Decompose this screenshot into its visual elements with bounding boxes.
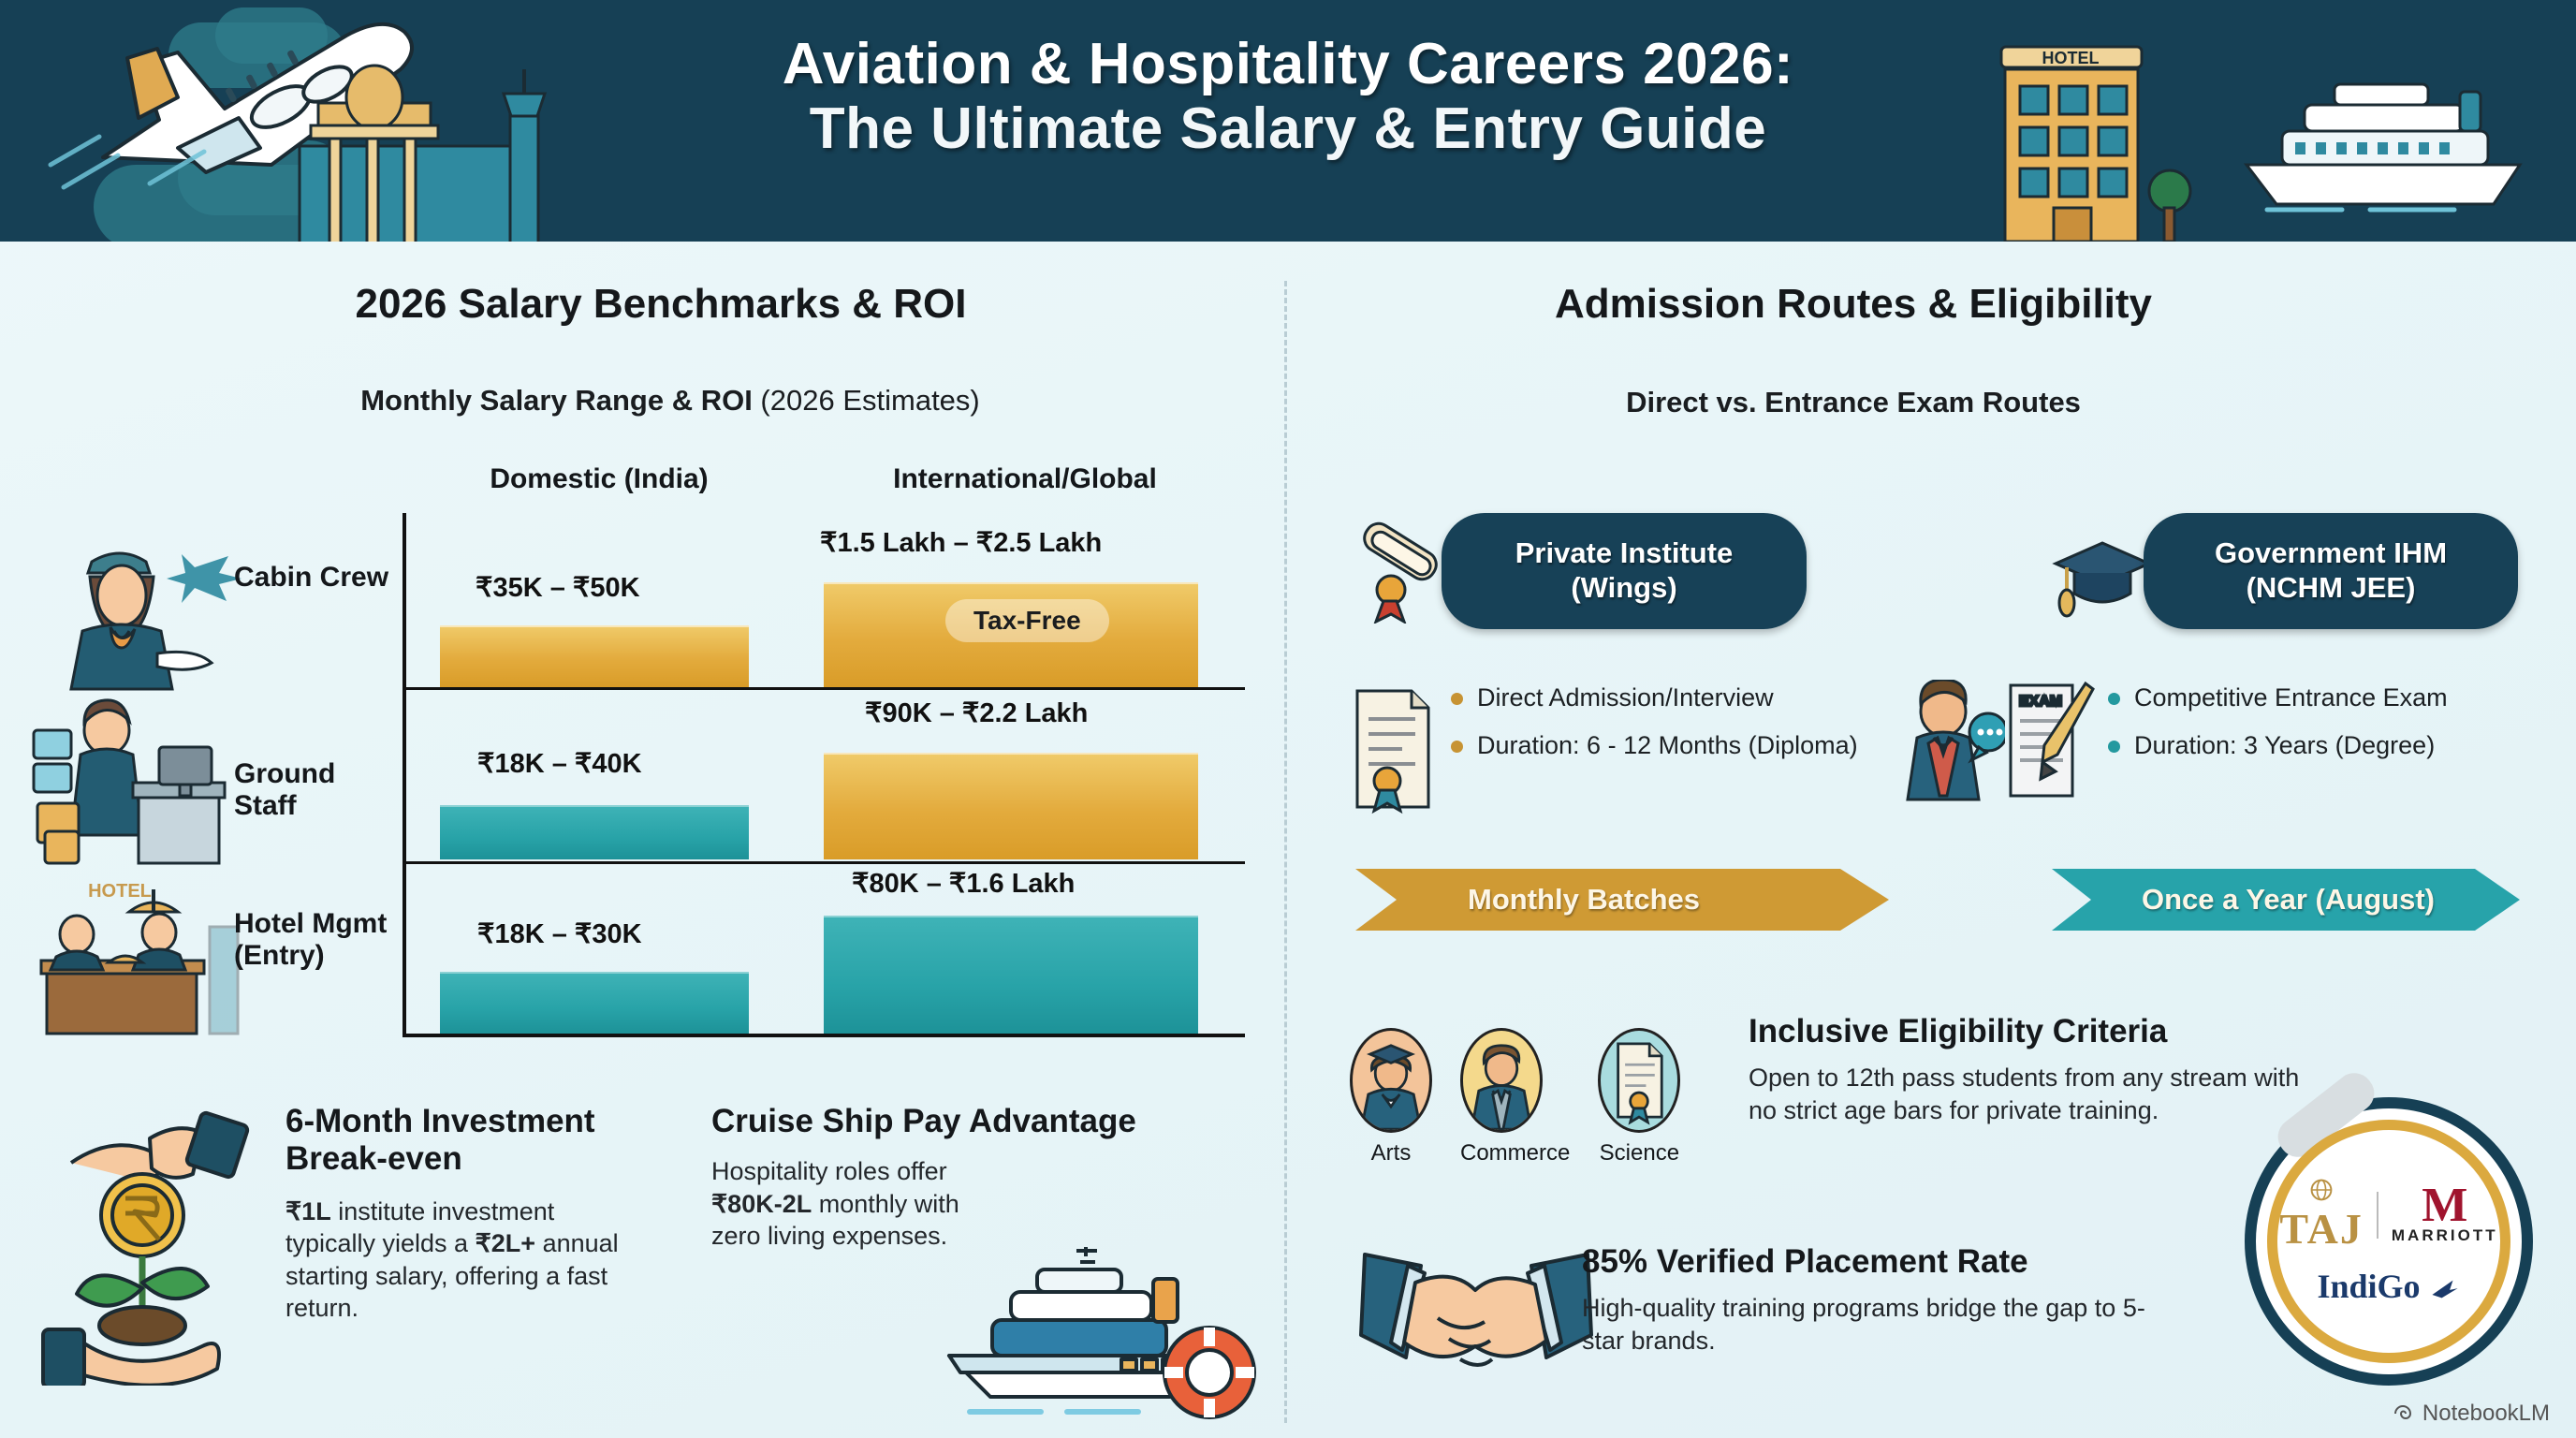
chart-row-label-ground-staff: Ground Staff <box>234 758 402 821</box>
notebooklm-watermark: NotebookLM <box>2392 1401 2550 1427</box>
stream-label-science: Science <box>1598 1140 1680 1167</box>
investment-card: 6-Month Investment Break-even ₹1L instit… <box>285 1103 632 1325</box>
handshake-icon <box>1359 1245 1593 1404</box>
cruise-pay-range: ₹80K-2L <box>711 1190 812 1218</box>
route-bullet-gov-0: Competitive Entrance Exam <box>2106 682 2576 714</box>
placement-text-block: 85% Verified Placement Rate High-quality… <box>1582 1243 2162 1357</box>
bar-label-hotel-mgmt-domestic: ₹18K – ₹30K <box>477 917 642 950</box>
cruise-card-heading: Cruise Ship Pay Advantage <box>711 1103 1254 1140</box>
graduation-cap-icon <box>2050 521 2153 624</box>
cabin-crew-icon <box>37 534 253 693</box>
bar-hotel-mgmt-domestic <box>440 972 749 1034</box>
cruise-card: Cruise Ship Pay Advantage Hospitality ro… <box>711 1103 1254 1253</box>
brand-marriott: M MARRIOTT <box>2392 1185 2498 1245</box>
stream-item-commerce: Commerce <box>1460 1028 1570 1167</box>
brand-taj: TAJ <box>2279 1204 2364 1254</box>
bar-label-cabin-crew-international: ₹1.5 Lakh – ₹2.5 Lakh <box>820 526 1102 559</box>
cruise-card-body: Hospitality roles offer ₹80K-2L monthly … <box>711 1155 1002 1253</box>
brand-logo-row: TAJ M MARRIOTT <box>2279 1178 2497 1254</box>
diploma-scroll-icon <box>1348 521 1451 624</box>
cruise-ship-illustration-icon <box>936 1245 1264 1423</box>
bar-ground-staff-domestic <box>440 805 749 859</box>
svg-text:EXAM: EXAM <box>2019 694 2062 710</box>
svg-text:HOTEL: HOTEL <box>88 881 152 902</box>
hand-coin-plant-icon <box>37 1105 271 1386</box>
right-subtitle: Direct vs. Entrance Exam Routes <box>1385 386 2321 419</box>
chart-col-header-international: International/Global <box>824 463 1226 495</box>
route-bullet-private-0: Direct Admission/Interview <box>1449 682 1936 714</box>
cruise-ship-icon <box>2230 73 2539 213</box>
route-bullet-gov-1: Duration: 3 Years (Degree) <box>2106 729 2576 762</box>
partner-brands-badge: TAJ M MARRIOTT IndiGo <box>2245 1097 2533 1386</box>
placement-body: High-quality training programs bridge th… <box>1582 1292 2162 1357</box>
right-column-title: Admission Routes & Eligibility <box>1385 281 2321 328</box>
brand-divider <box>2377 1192 2378 1239</box>
chart-subtitle-bold: Monthly Salary Range & ROI <box>360 384 753 417</box>
ground-staff-icon <box>28 693 243 871</box>
header-title-block: Aviation & Hospitality Careers 2026: The… <box>492 32 2084 162</box>
investment-card-heading: 6-Month Investment Break-even <box>285 1103 632 1179</box>
bar-hotel-mgmt-international <box>824 916 1198 1034</box>
investment-amount: ₹1L <box>285 1197 331 1225</box>
investment-yield: ₹2L+ <box>476 1229 535 1257</box>
chevron-once-a-year[interactable]: Once a Year (August) <box>2052 869 2520 931</box>
bar-cabin-crew-domestic <box>440 625 749 687</box>
eligibility-body: Open to 12th pass students from any stre… <box>1749 1062 2310 1126</box>
chart-col-header-domestic: Domestic (India) <box>440 463 758 495</box>
brand-marriott-mark: M <box>2392 1185 2498 1226</box>
infographic-page: HOTEL Aviation & Hospitality Careers 202 <box>0 0 2576 1438</box>
interview-person-icon <box>1900 680 2005 801</box>
arts-avatar-icon <box>1350 1028 1432 1133</box>
eligibility-streams: Arts Commerce <box>1350 1028 1680 1167</box>
exam-paper-pencil-icon: EXAM <box>2003 680 2097 801</box>
brand-indigo-text: IndiGo <box>2317 1268 2420 1305</box>
notebooklm-logo-icon <box>2392 1402 2414 1425</box>
eligibility-text-block: Inclusive Eligibility Criteria Open to 1… <box>1749 1013 2310 1126</box>
partner-brands-inner: TAJ M MARRIOTT IndiGo <box>2267 1120 2510 1363</box>
chart-row-separator-2 <box>402 861 1245 864</box>
route-pill-private-line2: (Wings) <box>1571 571 1676 606</box>
route-pill-private-line1: Private Institute <box>1515 536 1734 571</box>
eligibility-heading: Inclusive Eligibility Criteria <box>1749 1013 2310 1050</box>
chart-x-axis <box>402 1034 1245 1037</box>
chart-row-label-hotel-mgmt: Hotel Mgmt (Entry) <box>234 908 412 971</box>
chart-row-separator-1 <box>402 687 1245 690</box>
bar-label-cabin-crew-domestic: ₹35K – ₹50K <box>476 571 640 604</box>
route-bullets-government: Competitive Entrance Exam Duration: 3 Ye… <box>2106 682 2576 777</box>
route-pill-gov-line1: Government IHM <box>2215 536 2447 571</box>
brand-indigo: IndiGo <box>2317 1267 2460 1306</box>
header-banner: HOTEL Aviation & Hospitality Careers 202 <box>0 0 2576 242</box>
tax-free-badge: Tax-Free <box>945 599 1109 642</box>
certificate-document-icon <box>1346 683 1440 814</box>
bar-label-hotel-mgmt-international: ₹80K – ₹1.6 Lakh <box>852 867 1075 900</box>
bar-ground-staff-international <box>824 753 1198 859</box>
placement-heading: 85% Verified Placement Rate <box>1582 1243 2162 1281</box>
route-pill-government-ihm[interactable]: Government IHM (NCHM JEE) <box>2144 513 2518 629</box>
chart-subtitle-light: (2026 Estimates) <box>753 384 980 417</box>
chart-y-axis <box>402 513 406 1037</box>
chart-subtitle: Monthly Salary Range & ROI (2026 Estimat… <box>240 384 1101 418</box>
stream-label-arts: Arts <box>1350 1140 1432 1167</box>
indigo-plane-icon <box>2429 1277 2461 1301</box>
salary-bar-chart: ₹35K – ₹50K ₹1.5 Lakh – ₹2.5 Lakh Tax-Fr… <box>402 513 1245 1037</box>
stream-item-arts: Arts <box>1350 1028 1432 1167</box>
chevron-monthly-batches[interactable]: Monthly Batches <box>1355 869 1889 931</box>
stream-item-science: Science <box>1598 1028 1680 1167</box>
bar-label-ground-staff-international: ₹90K – ₹2.2 Lakh <box>865 697 1088 729</box>
route-pill-private-institute[interactable]: Private Institute (Wings) <box>1442 513 1807 629</box>
stream-label-commerce: Commerce <box>1460 1140 1570 1167</box>
brand-marriott-word: MARRIOTT <box>2392 1226 2498 1245</box>
route-pill-gov-line2: (NCHM JEE) <box>2247 571 2416 606</box>
column-divider <box>1284 281 1287 1423</box>
commerce-avatar-icon <box>1460 1028 1543 1133</box>
taj-globe-icon <box>2309 1178 2334 1202</box>
left-column-title: 2026 Salary Benchmarks & ROI <box>240 281 1082 328</box>
hotel-mgmt-icon: HOTEL <box>19 871 243 1049</box>
title-line-2: The Ultimate Salary & Entry Guide <box>492 96 2084 161</box>
chart-row-label-cabin-crew: Cabin Crew <box>234 562 393 594</box>
investment-card-body: ₹1L institute investment typically yield… <box>285 1196 632 1325</box>
route-bullet-private-1: Duration: 6 - 12 Months (Diploma) <box>1449 729 1936 762</box>
route-bullets-private: Direct Admission/Interview Duration: 6 -… <box>1449 682 1936 777</box>
watermark-text: NotebookLM <box>2422 1401 2550 1427</box>
science-certificate-icon <box>1598 1028 1680 1133</box>
bar-label-ground-staff-domestic: ₹18K – ₹40K <box>477 747 642 780</box>
cruise-body-1: Hospitality roles offer <box>711 1157 947 1185</box>
title-line-1: Aviation & Hospitality Careers 2026: <box>492 32 2084 96</box>
